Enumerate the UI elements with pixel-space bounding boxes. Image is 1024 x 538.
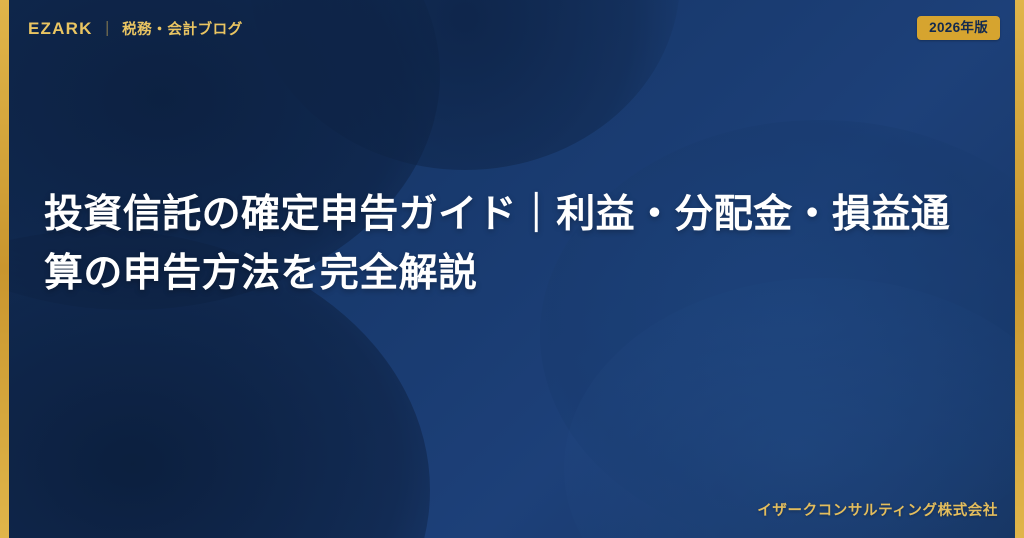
header-bar: EZARK ｜ 税務・会計ブログ 2026年版	[0, 0, 1024, 56]
brand-name: EZARK	[28, 19, 93, 39]
year-badge: 2026年版	[917, 16, 1000, 41]
title-block: 投資信託の確定申告ガイド｜利益・分配金・損益通算の申告方法を完全解説	[44, 185, 974, 304]
accent-bar-right	[1015, 0, 1024, 538]
company-name: イザークコンサルティング株式会社	[757, 503, 998, 519]
brand-separator: ｜	[100, 18, 116, 39]
brand-subtitle: 税務・会計ブログ	[122, 18, 243, 39]
accent-bar-left	[0, 0, 9, 538]
footer: イザークコンサルティング株式会社	[757, 499, 998, 520]
brand: EZARK ｜ 税務・会計ブログ	[28, 18, 243, 39]
slide-canvas: EZARK ｜ 税務・会計ブログ 2026年版 投資信託の確定申告ガイド｜利益・…	[0, 0, 1024, 538]
page-title: 投資信託の確定申告ガイド｜利益・分配金・損益通算の申告方法を完全解説	[44, 185, 974, 304]
